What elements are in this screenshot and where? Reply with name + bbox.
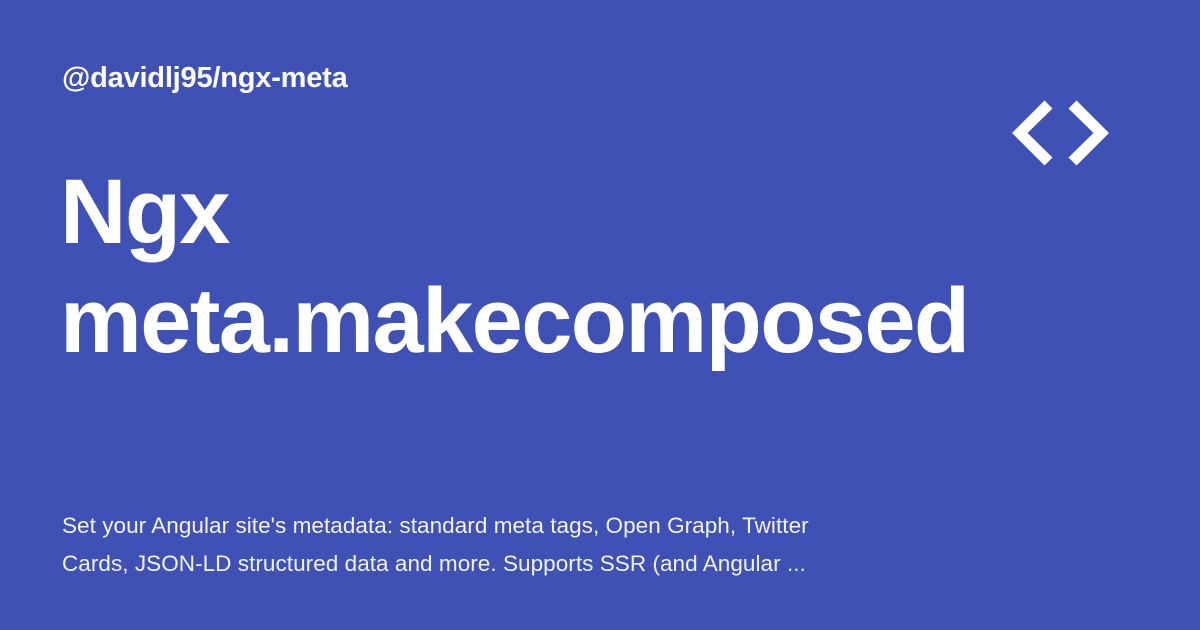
page-title-line-1: Ngx xyxy=(60,158,1140,267)
social-preview-card: @davidlj95/ngx-meta Ngx meta.makecompose… xyxy=(0,0,1200,630)
description: Set your Angular site's metadata: standa… xyxy=(62,507,862,583)
description-line-1: Set your Angular site's metadata: standa… xyxy=(62,507,862,545)
header: @davidlj95/ngx-meta xyxy=(62,62,1138,172)
page-title: Ngx meta.makecomposed xyxy=(60,158,1140,377)
description-line-2: Cards, JSON-LD structured data and more.… xyxy=(62,545,862,583)
repository-slug: @davidlj95/ngx-meta xyxy=(62,62,348,95)
page-title-line-2: meta.makecomposed xyxy=(60,267,1140,376)
